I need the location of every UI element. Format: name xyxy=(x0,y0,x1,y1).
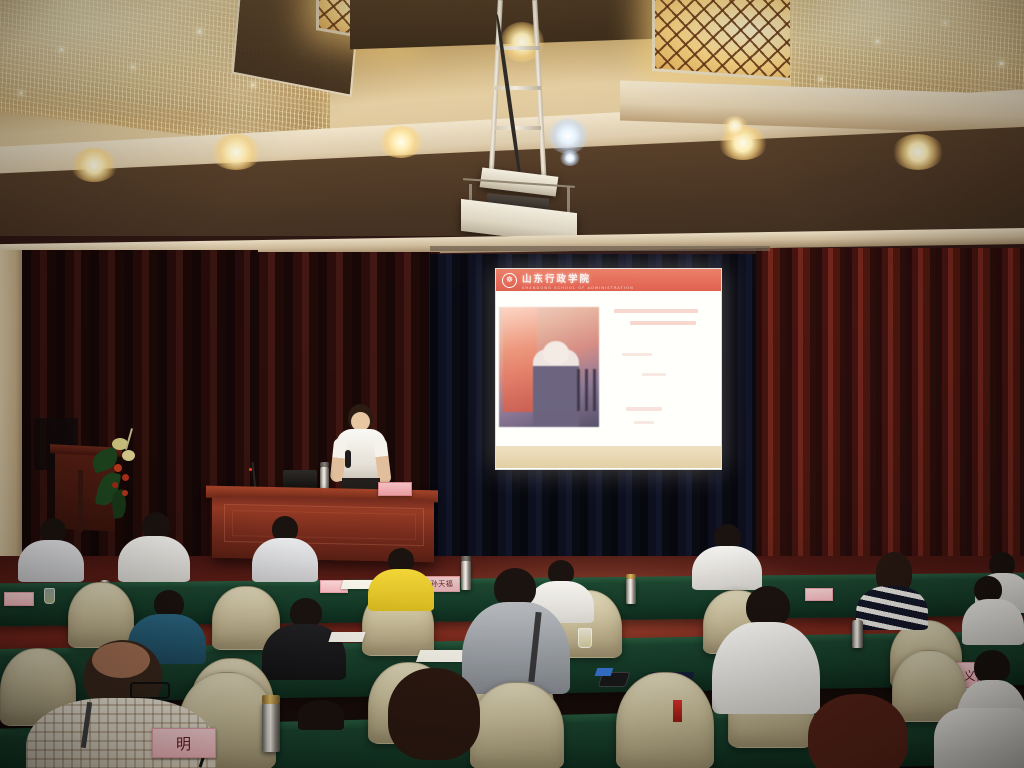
podium-mic-indicator-led xyxy=(249,468,252,471)
slide-photo xyxy=(499,307,599,427)
projector-lift-arm xyxy=(532,0,547,185)
institution-logo-icon: ☸ xyxy=(502,273,517,288)
table-namecard-partial: 明 xyxy=(152,728,216,758)
ceiling-sparkle xyxy=(820,78,822,80)
ceiling-sparkle xyxy=(20,92,22,94)
slide-speaker-head xyxy=(543,341,569,365)
attendee xyxy=(692,524,762,586)
attendee-bald-top xyxy=(92,642,150,678)
attendee-foreground-woman-right xyxy=(800,694,918,768)
attendee xyxy=(962,576,1024,642)
note-paper xyxy=(416,650,466,662)
attendee xyxy=(712,586,820,708)
table-thermos-cap-foreground xyxy=(262,695,280,704)
flower-bloom xyxy=(122,450,135,461)
ceiling-downlight-small xyxy=(722,116,748,136)
flower-bloom xyxy=(112,482,118,488)
attendee-body xyxy=(856,586,928,630)
curtain-track xyxy=(430,246,770,251)
table-thermos-foreground xyxy=(262,702,280,752)
podium-thermos-cap xyxy=(320,462,329,467)
attendee-body xyxy=(18,540,84,582)
table-thermos xyxy=(852,620,863,648)
attendee-foreground-woman xyxy=(376,668,492,768)
podium-laptop[interactable] xyxy=(283,470,317,488)
ceiling-sparkle xyxy=(60,48,63,51)
attendee xyxy=(18,518,84,580)
attendee-head xyxy=(974,650,1010,684)
chair[interactable] xyxy=(616,672,714,768)
institution-name-cn: 山东行政学院 xyxy=(522,271,634,285)
slide-text-line xyxy=(634,421,654,424)
attendee-body xyxy=(252,538,318,582)
ceiling-sparkle xyxy=(876,40,879,43)
attendee-hair xyxy=(388,668,480,760)
ceiling-sparkle xyxy=(132,66,134,68)
table-namecard xyxy=(4,592,34,606)
flower-bloom xyxy=(122,490,128,496)
attendee-body xyxy=(934,708,1024,768)
podium-namecard xyxy=(378,482,412,496)
attendee-hair xyxy=(808,694,908,768)
blue-card xyxy=(595,668,614,676)
ceiling-sparkle xyxy=(1000,62,1003,65)
slide-text-line xyxy=(642,373,666,376)
projector-mount-assembly xyxy=(455,0,585,240)
institution-name-en: SHANDONG SCHOOL OF ADMINISTRATION xyxy=(522,286,634,290)
flower-bloom xyxy=(114,464,122,472)
slide-text-line xyxy=(630,321,696,325)
attendee xyxy=(272,700,368,768)
ceiling-sparkle xyxy=(252,84,254,86)
attendee-body xyxy=(118,536,190,582)
ceiling-downlight xyxy=(378,126,424,158)
table-thermos-cap xyxy=(461,556,471,561)
attendee-body xyxy=(692,546,762,590)
projector-lift-arm xyxy=(488,0,503,185)
eyeglasses-icon xyxy=(130,682,170,699)
chair[interactable] xyxy=(68,582,134,648)
slide-text-line xyxy=(626,407,662,411)
slide-text-line xyxy=(614,309,698,313)
presenter xyxy=(330,404,392,494)
attendee xyxy=(368,548,434,608)
slide-microphone-row xyxy=(577,369,601,411)
flower-arrangement xyxy=(88,432,148,520)
ceiling-downlight xyxy=(70,148,118,182)
flower-bloom xyxy=(122,474,129,481)
ceiling-downlight xyxy=(892,134,944,170)
table-thermos xyxy=(626,578,636,604)
attendee-body xyxy=(962,599,1024,645)
slide-header-bar: ☸ 山东行政学院 SHANDONG SCHOOL OF ADMINISTRATI… xyxy=(496,269,721,291)
projection-screen[interactable]: ☸ 山东行政学院 SHANDONG SCHOOL OF ADMINISTRATI… xyxy=(495,268,722,470)
attendee-body xyxy=(368,569,434,611)
curtain-right xyxy=(756,248,1024,568)
conference-hall-photo: ☸ 山东行政学院 SHANDONG SCHOOL OF ADMINISTRATI… xyxy=(0,0,1024,768)
note-paper xyxy=(328,632,365,642)
projector-lift-crossbar xyxy=(495,126,541,130)
flower-stem xyxy=(125,428,133,450)
projector-lift-crossbar xyxy=(495,86,541,90)
slide-footer-bar xyxy=(496,446,721,468)
table-thermos-cap xyxy=(626,574,636,579)
logo-glyph: ☸ xyxy=(506,276,513,284)
slide-body xyxy=(496,291,721,446)
ceiling-sparkle xyxy=(198,30,201,33)
ceiling-sparkle xyxy=(944,22,946,24)
badge xyxy=(673,700,682,722)
attendee xyxy=(934,700,1024,768)
attendee-head xyxy=(298,700,344,730)
ceiling xyxy=(0,0,1024,250)
attendee xyxy=(118,512,190,580)
water-glass xyxy=(578,628,592,648)
microphone[interactable] xyxy=(345,450,351,468)
attendee-woman xyxy=(856,552,928,624)
attendee xyxy=(252,516,318,580)
slide-text-line xyxy=(622,353,652,356)
projector-cable xyxy=(495,14,523,183)
slide-flag xyxy=(503,307,537,412)
ceiling-downlight xyxy=(210,134,262,170)
water-glass xyxy=(44,588,55,604)
